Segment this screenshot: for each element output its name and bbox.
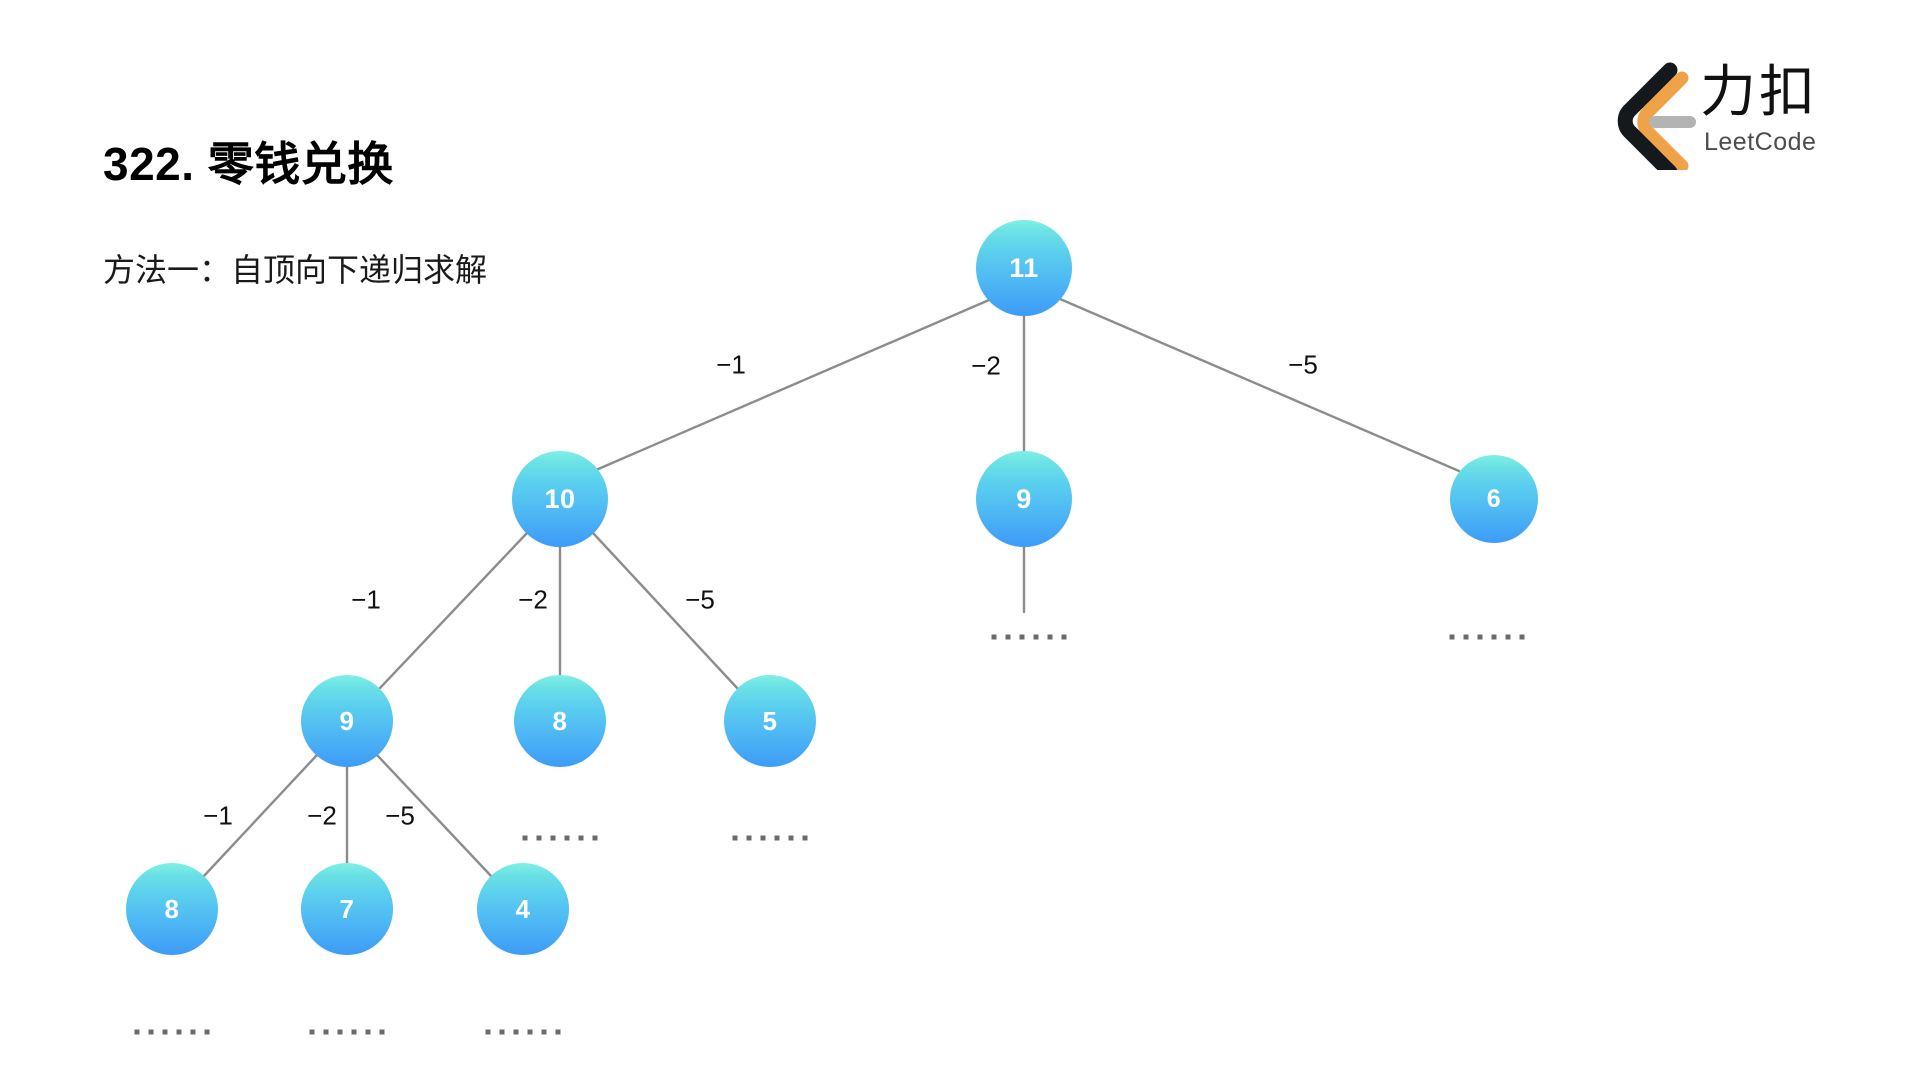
tree-node-n4[interactable]: 4 <box>477 863 569 955</box>
leetcode-logo: 力扣 LeetCode <box>1608 60 1823 170</box>
ellipsis-dots-4 <box>486 1030 561 1035</box>
edge-weight-label: −1 <box>203 801 233 832</box>
page-title: 322. 零钱兑换 <box>103 128 394 194</box>
logo-brand-cn: 力扣 <box>1700 62 1818 122</box>
tree-edge <box>380 533 527 688</box>
edge-weight-label: −2 <box>307 801 337 832</box>
edge-weight-label: −2 <box>971 351 1001 382</box>
ellipsis-dots-7 <box>310 1030 385 1035</box>
tree-edge <box>1060 299 1459 471</box>
logo-brand-en: LeetCode <box>1704 128 1816 156</box>
ellipsis-dots-5 <box>733 836 808 841</box>
edge-weight-label: −5 <box>685 585 715 616</box>
tree-node-n9[interactable]: 9 <box>301 675 393 767</box>
tree-node-n8b[interactable]: 8 <box>126 863 218 955</box>
tree-node-n5[interactable]: 5 <box>724 675 816 767</box>
slide-canvas: 322. 零钱兑换 方法一：自顶向下递归求解 力扣 LeetCode 11109… <box>0 0 1920 1080</box>
tree-edge <box>596 300 989 470</box>
ellipsis-dots-8b <box>135 1030 210 1035</box>
method-subtitle: 方法一：自顶向下递归求解 <box>103 245 487 291</box>
ellipsis-dots-9r <box>992 635 1067 640</box>
tree-edge <box>593 533 738 689</box>
edge-weight-label: −1 <box>716 350 746 381</box>
tree-node-n10[interactable]: 10 <box>512 451 608 547</box>
tree-node-n11[interactable]: 11 <box>976 220 1072 316</box>
tree-node-n8m[interactable]: 8 <box>514 675 606 767</box>
edge-weight-label: −2 <box>518 585 548 616</box>
tree-node-n6[interactable]: 6 <box>1450 455 1538 543</box>
ellipsis-dots-8m <box>523 836 598 841</box>
tree-node-n7[interactable]: 7 <box>301 863 393 955</box>
edge-weight-label: −1 <box>351 585 381 616</box>
ellipsis-dots-6 <box>1450 635 1525 640</box>
edge-weight-label: −5 <box>385 801 415 832</box>
edge-weight-label: −5 <box>1288 350 1318 381</box>
tree-node-n9r[interactable]: 9 <box>976 451 1072 547</box>
leetcode-wordmark: 力扣 LeetCode <box>1700 62 1825 172</box>
